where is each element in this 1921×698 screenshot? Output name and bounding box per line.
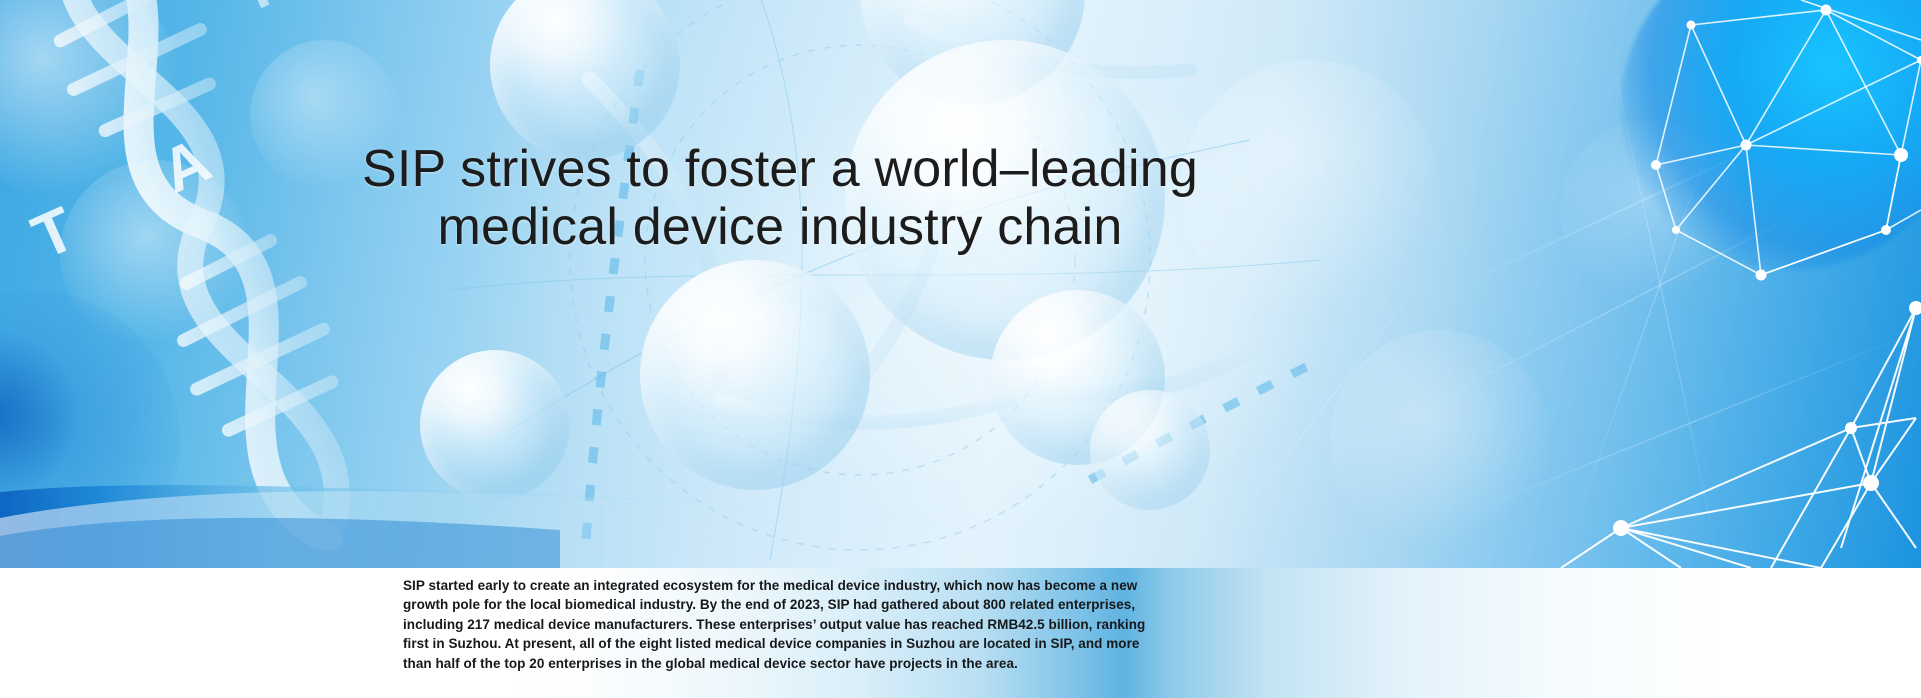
panel-body-text: SIP started early to create an integrate… bbox=[403, 576, 1155, 673]
bottom-swoosh bbox=[0, 478, 1921, 568]
molecule-sphere bbox=[640, 260, 870, 490]
dna-letter: T bbox=[226, 0, 289, 27]
banner-page: T A T A bbox=[0, 0, 1921, 698]
page-title: SIP strives to foster a world–leading me… bbox=[0, 140, 1560, 256]
hero-banner: T A T A bbox=[0, 0, 1921, 568]
